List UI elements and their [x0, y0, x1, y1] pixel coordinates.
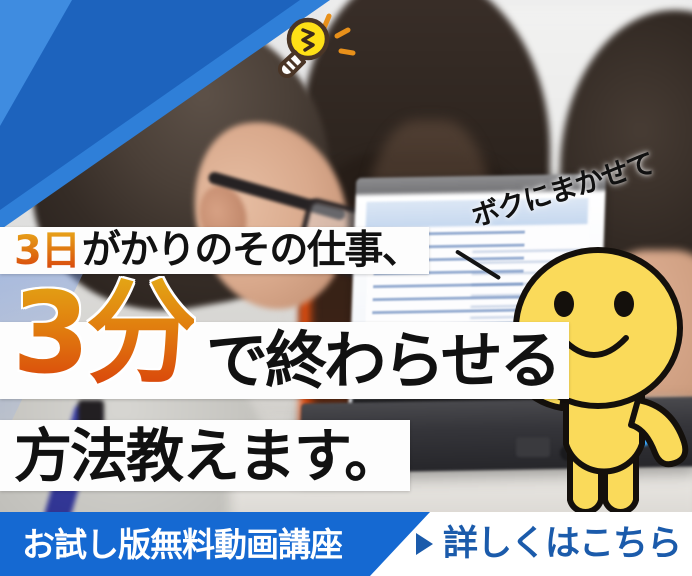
headline-1-accent: 3日: [14, 231, 82, 271]
play-triangle-icon: [416, 533, 433, 555]
headline-2-rest: で終わらせる: [206, 330, 559, 392]
cta-badge-label: お試し版無料動画講座: [22, 528, 342, 561]
headline-line-3: 方法教えます。: [0, 420, 410, 491]
headline-1-rest: がかりのその仕事、: [82, 231, 420, 270]
headline-line-2: 3分 で終わらせる: [0, 322, 569, 399]
cta-bar[interactable]: お試し版無料動画講座 詳しくはこちら: [0, 512, 692, 576]
cta-link-label: 詳しくはこちら: [443, 527, 681, 562]
cta-badge[interactable]: お試し版無料動画講座: [0, 512, 430, 576]
headline-line-1: 3日 がかりのその仕事、: [0, 227, 429, 274]
lightbulb-icon: [268, 8, 364, 78]
headline-2-accent: 3分: [12, 278, 194, 390]
headline-3-text: 方法教えます。: [14, 427, 400, 485]
ad-banner[interactable]: ボクにまかせて 3日 がかりのその仕事、 3分 で終わらせる 方法教えます: [0, 0, 692, 576]
cta-details-link[interactable]: 詳しくはこちら: [416, 512, 681, 576]
mascot-eye-right: [614, 291, 634, 317]
mascot-eye-left: [554, 291, 574, 317]
